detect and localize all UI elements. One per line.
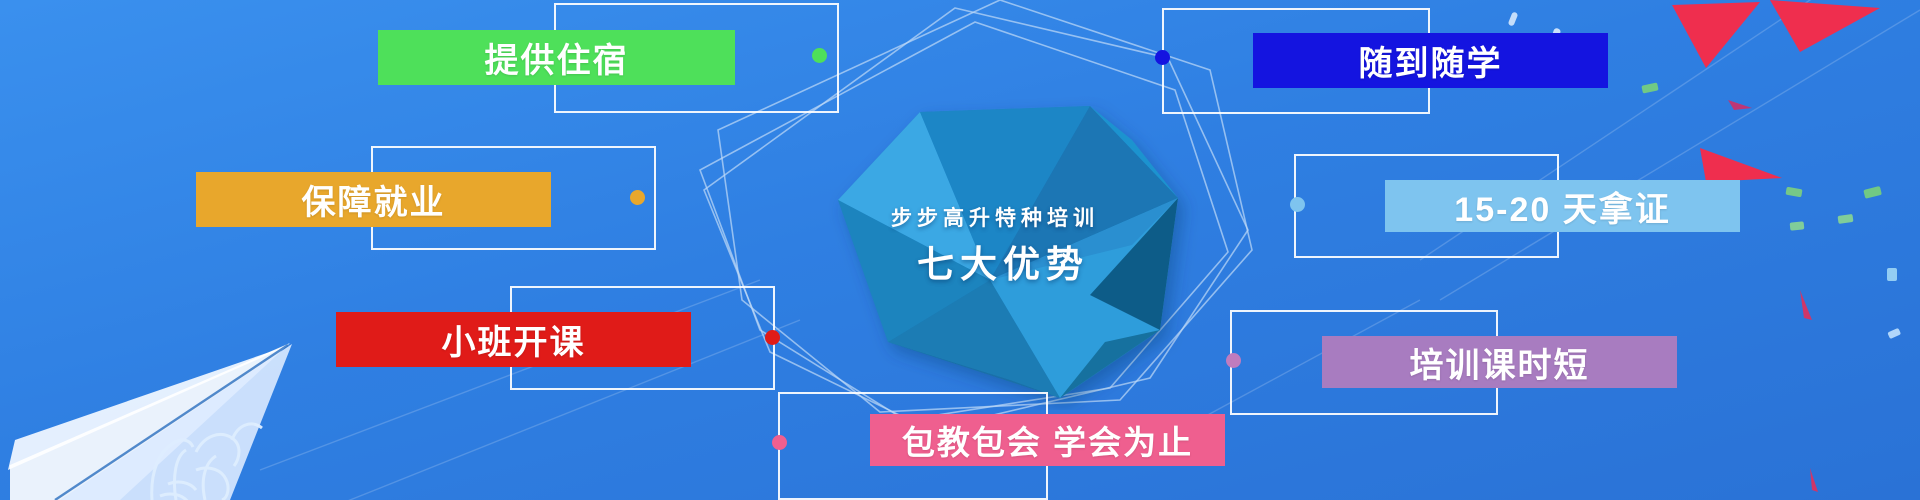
heptagon-graphic [760, 80, 1200, 410]
dot-accommodation [812, 48, 827, 63]
promo-banner: 步步高升特种培训 七大优势 提供住宿 [0, 0, 1920, 500]
chip-short-course[interactable]: 培训课时短 [1322, 336, 1677, 388]
chip-fast-cert-label: 15-20 天拿证 [1454, 182, 1670, 231]
chip-short-course-label: 培训课时短 [1410, 338, 1590, 387]
chip-employment[interactable]: 保障就业 [196, 172, 551, 227]
red-triangle-icon [1672, 0, 1880, 492]
chip-anytime-study-label: 随到随学 [1359, 36, 1503, 85]
dot-anytime-study [1155, 50, 1170, 65]
dot-employment [630, 190, 645, 205]
chip-small-class[interactable]: 小班开课 [336, 312, 691, 367]
dot-small-class [765, 330, 780, 345]
chip-fast-cert[interactable]: 15-20 天拿证 [1385, 180, 1740, 232]
dot-fast-cert [1290, 197, 1305, 212]
chip-small-class-label: 小班开课 [442, 315, 586, 364]
chip-accommodation[interactable]: 提供住宿 [378, 30, 735, 85]
center-polygon: 步步高升特种培训 七大优势 [760, 80, 1200, 410]
chip-accommodation-label: 提供住宿 [485, 33, 629, 82]
chip-teach-till-learned[interactable]: 包教包会 学会为止 [870, 414, 1225, 466]
chip-teach-till-learned-label: 包教包会 学会为止 [902, 416, 1193, 464]
chip-anytime-study[interactable]: 随到随学 [1253, 33, 1608, 88]
dot-short-course [1226, 353, 1241, 368]
dot-teach-till-learned [772, 435, 787, 450]
chip-employment-label: 保障就业 [302, 175, 446, 224]
